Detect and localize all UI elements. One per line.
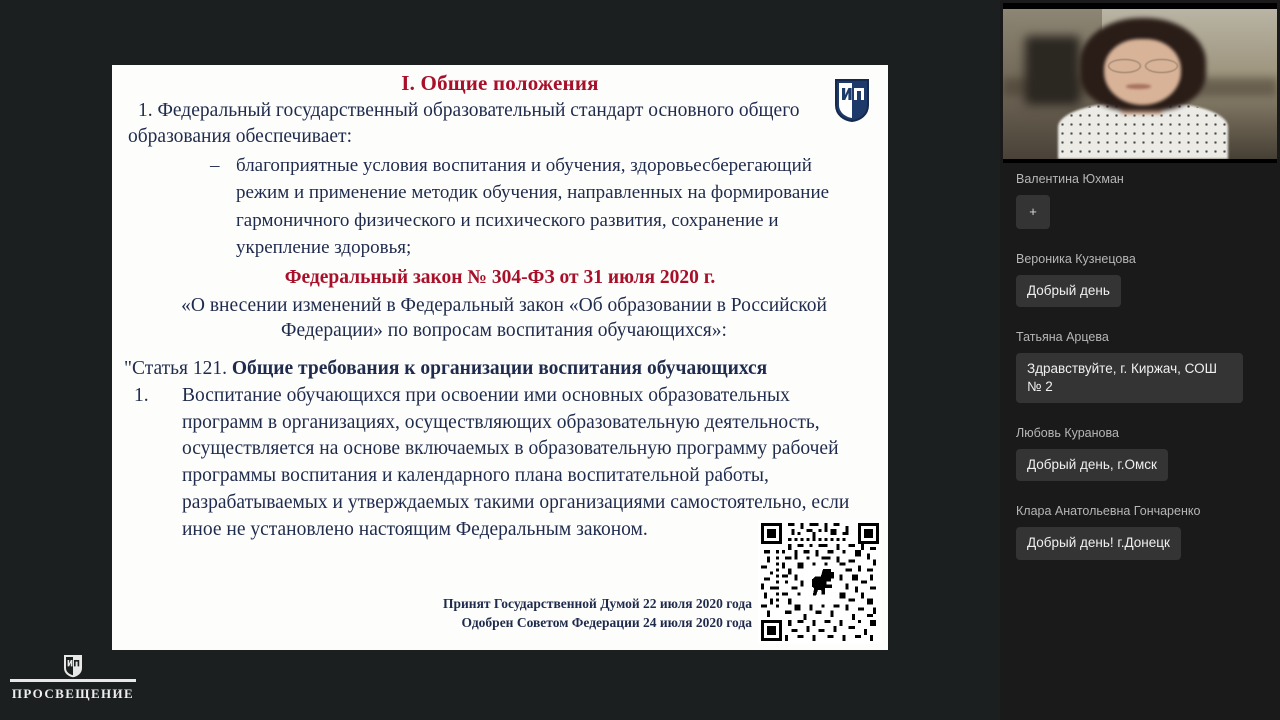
brand-divider (10, 679, 136, 682)
slide-bullet-1-text: благоприятные условия воспитания и обуче… (236, 152, 844, 261)
chat-message-bubble[interactable]: Добрый день (1016, 275, 1121, 307)
bullet-dash-icon: – (210, 152, 220, 179)
slide-article-line: "Статья 121. Общие требования к организа… (124, 357, 880, 382)
slide-clause-number: 1. (134, 383, 149, 410)
chat-entry: Валентина Юхман+ (1000, 172, 1280, 229)
chat-author-name: Любовь Куранова (1016, 426, 1266, 441)
chat-add-reaction-button[interactable]: + (1016, 195, 1050, 229)
chat-author-name: Татьяна Арцева (1016, 330, 1266, 345)
right-sidebar: Валентина Юхман+Вероника КузнецоваДобрый… (1000, 0, 1280, 720)
slide-article-prefix: "Статья 121. (124, 358, 227, 379)
brand-name: ПРОСВЕЩЕНИЕ (8, 686, 138, 702)
webcam-video (1003, 9, 1277, 159)
chat-author-name: Клара Анатольевна Гончаренко (1016, 504, 1266, 519)
brand-logo: ПРОСВЕЩЕНИЕ (8, 654, 138, 702)
slide-adopted-duma: Принят Государственной Думой 22 июля 202… (112, 594, 752, 613)
slide-adoption-block: Принят Государственной Думой 22 июля 202… (112, 594, 752, 632)
slide-law-quote: «О внесении изменений в Федеральный зако… (130, 293, 878, 344)
chat-author-name: Вероника Кузнецова (1016, 252, 1266, 267)
chat-entry: Татьяна АрцеваЗдравствуйте, г. Киржач, С… (1000, 330, 1280, 403)
chat-message-list[interactable]: Валентина Юхман+Вероника КузнецоваДобрый… (1000, 172, 1280, 583)
chat-message-bubble[interactable]: Добрый день, г.Омск (1016, 449, 1168, 481)
chat-message-bubble[interactable]: Здравствуйте, г. Киржач, СОШ № 2 (1016, 353, 1243, 403)
slide-title: I. Общие положения (112, 71, 888, 96)
slide-article-bold: Общие требования к организации воспитани… (232, 358, 767, 379)
slide-paragraph-1: 1. Федеральный государственный образоват… (128, 98, 836, 149)
slide-law-heading: Федеральный закон № 304-ФЗ от 31 июля 20… (112, 267, 888, 289)
chat-entry: Вероника КузнецоваДобрый день (1000, 252, 1280, 307)
shield-ip-icon (63, 654, 83, 678)
speaker-video-tile[interactable] (1003, 3, 1277, 163)
chat-author-name: Валентина Юхман (1016, 172, 1266, 187)
presentation-stage: I. Общие положения 1. Федеральный госуда… (0, 0, 1000, 720)
qr-code-icon[interactable] (758, 520, 882, 644)
chat-entry: Любовь КурановаДобрый день, г.Омск (1000, 426, 1280, 481)
slide-adopted-federation: Одобрен Советом Федерации 24 июля 2020 г… (112, 613, 752, 632)
chat-message-bubble[interactable]: Добрый день! г.Донецк (1016, 527, 1181, 559)
shared-slide[interactable]: I. Общие положения 1. Федеральный госуда… (112, 65, 888, 650)
slide-bullet-1: – благоприятные условия воспитания и обу… (210, 152, 844, 261)
chat-entry: Клара Анатольевна ГончаренкоДобрый день!… (1000, 504, 1280, 559)
